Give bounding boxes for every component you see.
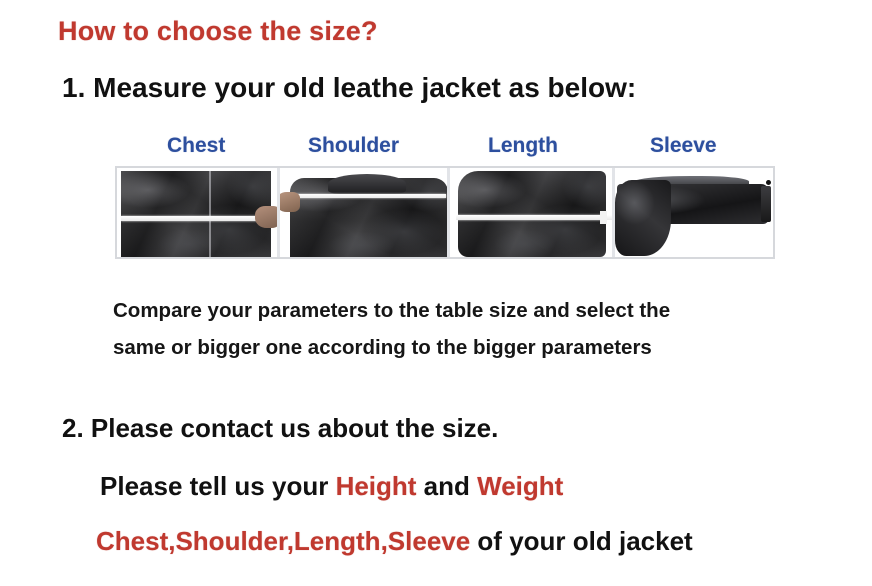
tell-us-prefix: Please tell us your	[100, 471, 336, 501]
chest-measure-tape	[121, 216, 276, 221]
jacket-length-image	[458, 171, 606, 257]
measurement-label-sleeve: Sleeve	[650, 134, 717, 158]
measurement-label-shoulder: Shoulder	[308, 134, 399, 158]
tape-end-notch	[600, 211, 607, 224]
hand-holding-tape	[280, 192, 300, 212]
keyword-weight: Weight	[477, 471, 563, 501]
length-measure-tape	[456, 215, 612, 220]
sleeve-photo	[615, 168, 773, 257]
compare-line-1: Compare your parameters to the table siz…	[113, 292, 813, 329]
compare-instructions: Compare your parameters to the table siz…	[113, 292, 813, 366]
hand-holding-tape	[255, 206, 280, 228]
keyword-height: Height	[336, 471, 417, 501]
measurement-photo-strip	[115, 166, 775, 259]
page-title: How to choose the size?	[58, 16, 378, 47]
tell-us-conjunction: and	[416, 471, 477, 501]
required-measurements-line: Chest,Shoulder,Length,Sleeve of your old…	[96, 526, 693, 557]
measurement-label-chest: Chest	[167, 134, 225, 158]
keyword-measurements: Chest,Shoulder,Length,Sleeve	[96, 526, 470, 556]
step-2-instruction: 2. Please contact us about the size.	[62, 413, 498, 444]
measurement-labels-row: Chest Shoulder Length Sleeve	[115, 134, 777, 162]
jacket-sleeve-shoulder	[615, 180, 671, 256]
jacket-zipper-seam	[209, 171, 211, 257]
shoulder-measure-tape	[294, 194, 446, 198]
chest-photo	[117, 168, 280, 257]
shoulder-photo	[280, 168, 450, 257]
length-photo	[450, 168, 615, 257]
size-guide-page: How to choose the size? 1. Measure your …	[0, 0, 872, 586]
sleeve-end-marker	[766, 180, 771, 185]
compare-line-2: same or bigger one according to the bigg…	[113, 329, 813, 366]
step-1-instruction: 1. Measure your old leathe jacket as bel…	[62, 72, 636, 104]
jacket-collar	[328, 174, 406, 194]
tell-us-line: Please tell us your Height and Weight	[100, 471, 563, 502]
jacket-sleeve-cuff	[761, 186, 771, 222]
jacket-chest-image	[121, 171, 271, 257]
measurement-label-length: Length	[488, 134, 558, 158]
required-measurements-suffix: of your old jacket	[470, 526, 693, 556]
